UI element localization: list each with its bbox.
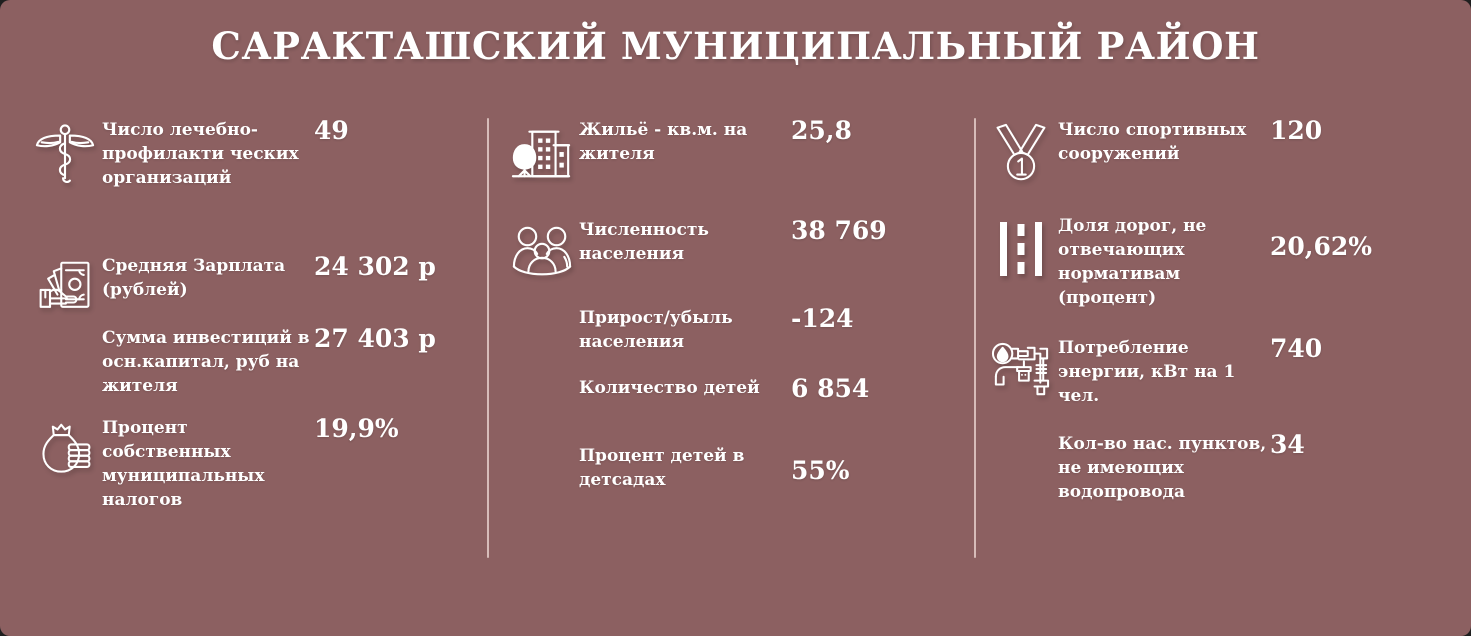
icon-placeholder xyxy=(28,324,102,398)
water-pipe-icon xyxy=(984,334,1058,408)
stat-row: Прирост/убыль населения -124 xyxy=(505,304,951,378)
stat-value: 6 854 xyxy=(791,374,869,404)
stat-row: Сумма инвестиций в осн.капитал, руб на ж… xyxy=(28,324,474,398)
money-bag-icon xyxy=(28,414,102,488)
road-markings-icon xyxy=(984,212,1058,286)
stat-label: Число лечебно-профилакти ческих организа… xyxy=(102,116,314,190)
infographic-poster: САРАКТАШСКИЙ МУНИЦИПАЛЬНЫЙ РАЙОН xyxy=(0,0,1471,636)
buildings-tree-icon xyxy=(505,116,579,190)
stat-value-wrap: 120 xyxy=(1270,116,1430,146)
stat-value-wrap: 49 xyxy=(314,116,474,146)
stat-value-wrap: 740 xyxy=(1270,334,1430,364)
stat-row: Число спортивных сооружений 120 xyxy=(984,116,1430,190)
stat-value-wrap: 34 xyxy=(1270,430,1430,460)
stat-value-wrap: 55% xyxy=(791,442,951,486)
stat-label: Кол-во нас. пунктов, не имеющих водопров… xyxy=(1058,430,1270,504)
stat-value: 49 xyxy=(314,116,349,146)
stat-value: 38 769 xyxy=(791,216,887,246)
page-title: САРАКТАШСКИЙ МУНИЦИПАЛЬНЫЙ РАЙОН xyxy=(0,24,1471,68)
stat-value: 740 xyxy=(1270,334,1322,364)
stat-label: Численность населения xyxy=(579,216,791,266)
stat-label: Жильё - кв.м. на жителя xyxy=(579,116,791,166)
stat-value-wrap: -124 xyxy=(791,304,951,334)
stat-value-wrap: 24 302 р xyxy=(314,252,474,282)
stat-label: Число спортивных сооружений xyxy=(1058,116,1270,166)
stat-row: Число лечебно-профилакти ческих организа… xyxy=(28,116,474,190)
stat-row: Процент собственных муниципальных налого… xyxy=(28,414,474,513)
stat-value: 55% xyxy=(791,456,850,486)
stat-value: 34 xyxy=(1270,430,1305,460)
stats-columns: Число лечебно-профилакти ческих организа… xyxy=(0,112,1471,582)
stat-row: Процент детей в детсадах 55% xyxy=(505,442,951,516)
stat-value: 25,8 xyxy=(791,116,852,146)
stat-label: Сумма инвестиций в осн.капитал, руб на ж… xyxy=(102,324,314,398)
stat-label: Прирост/убыль населения xyxy=(579,304,791,354)
stat-value-wrap: 25,8 xyxy=(791,116,951,146)
column-1: Число лечебно-профилакти ческих организа… xyxy=(0,112,487,582)
stat-label: Количество детей xyxy=(579,374,791,400)
stat-row: Жильё - кв.м. на жителя 25,8 xyxy=(505,116,951,190)
stat-label: Процент собственных муниципальных налого… xyxy=(102,414,314,513)
stat-row: Средняя Зарплата (рублей) 24 302 р xyxy=(28,252,474,326)
stat-value-wrap: 20,62% xyxy=(1270,212,1430,262)
caduceus-icon xyxy=(28,116,102,190)
stat-row: Количество детей 6 854 xyxy=(505,374,951,448)
stat-label: Доля дорог, не отвечающих нормативам (пр… xyxy=(1058,212,1270,311)
stat-value: 24 302 р xyxy=(314,252,436,282)
stat-label: Потребление энергии, кВт на 1 чел. xyxy=(1058,334,1270,408)
stat-value: 19,9% xyxy=(314,414,399,444)
icon-placeholder xyxy=(505,374,579,448)
stat-value: -124 xyxy=(791,304,854,334)
stat-row: Доля дорог, не отвечающих нормативам (пр… xyxy=(984,212,1430,311)
stat-value-wrap: 6 854 xyxy=(791,374,951,404)
medal-icon xyxy=(984,116,1058,190)
column-2: Жильё - кв.м. на жителя 25,8 xyxy=(487,112,974,582)
stat-value-wrap: 27 403 р xyxy=(314,324,474,354)
stat-value-wrap: 19,9% xyxy=(314,414,474,444)
stat-value: 27 403 р xyxy=(314,324,436,354)
icon-placeholder xyxy=(984,430,1058,504)
people-group-icon xyxy=(505,216,579,290)
column-3: Число спортивных сооружений 120 Доля дор… xyxy=(974,112,1471,582)
stat-row: Потребление энергии, кВт на 1 чел. 740 xyxy=(984,334,1430,408)
stat-value: 20,62% xyxy=(1270,232,1372,262)
icon-placeholder xyxy=(505,442,579,516)
stat-label: Процент детей в детсадах xyxy=(579,442,791,492)
hand-with-cash-icon xyxy=(28,252,102,326)
stat-label: Средняя Зарплата (рублей) xyxy=(102,252,314,302)
stat-value-wrap: 38 769 xyxy=(791,216,951,246)
icon-placeholder xyxy=(505,304,579,378)
stat-value: 120 xyxy=(1270,116,1322,146)
stat-row: Кол-во нас. пунктов, не имеющих водопров… xyxy=(984,430,1430,504)
stat-row: Численность населения 38 769 xyxy=(505,216,951,290)
